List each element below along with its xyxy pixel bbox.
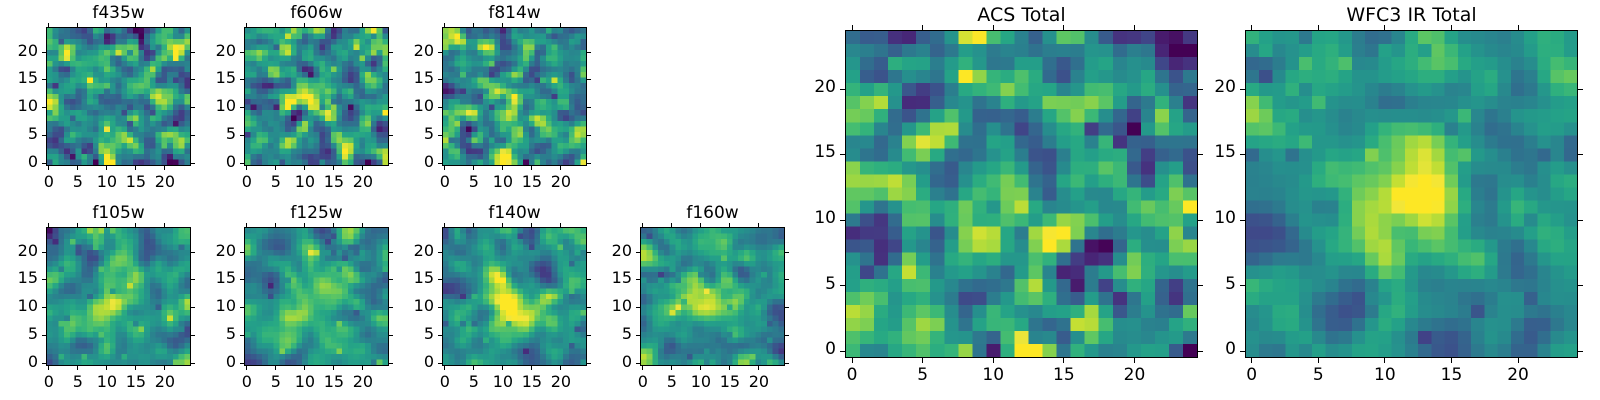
y-tick-right-acs_total-5 (1198, 285, 1203, 286)
heatmap-image-f105w (47, 228, 190, 365)
y-ticklabel-f606w-0: 0 (176, 152, 236, 171)
y-tick-f140w-15 (438, 279, 442, 280)
x-tick-top-f814w-0 (444, 23, 445, 27)
y-tick-f125w-0 (240, 363, 244, 364)
y-ticklabel-f160w-5: 5 (572, 324, 632, 343)
y-tick-f160w-5 (636, 335, 640, 336)
x-ticklabel-f435w-10: 10 (77, 172, 137, 191)
y-tick-right-f105w-10 (191, 307, 195, 308)
x-ticklabel-f814w-10: 10 (473, 172, 533, 191)
y-tick-right-f814w-20 (587, 52, 591, 53)
y-tick-right-f105w-20 (191, 252, 195, 253)
y-ticklabel-f140w-20: 20 (374, 241, 434, 260)
x-ticklabel-f125w-10: 10 (275, 372, 335, 391)
x-tick-top-f160w-20 (758, 223, 759, 227)
axes-f606w[interactable] (244, 27, 389, 166)
heatmap-image-f814w (443, 28, 586, 165)
x-tick-f125w-10 (304, 366, 305, 370)
x-ticklabel-wfc3_ir_total-20: 20 (1488, 365, 1548, 385)
y-ticklabel-f140w-0: 0 (374, 352, 434, 371)
x-ticklabel-f814w-0: 0 (415, 172, 475, 191)
y-ticklabel-f140w-15: 15 (374, 268, 434, 287)
y-tick-acs_total-5 (840, 285, 845, 286)
x-tick-wfc3_ir_total-20 (1518, 358, 1519, 363)
y-tick-right-acs_total-20 (1198, 89, 1203, 90)
heatmap-image-f125w (245, 228, 388, 365)
panel-f125w: f125w0510152005101520 (0, 0, 1600, 400)
y-ticklabel-f435w-5: 5 (0, 124, 38, 143)
x-tick-top-wfc3_ir_total-0 (1251, 25, 1252, 30)
y-tick-right-f606w-10 (389, 107, 393, 108)
x-tick-top-wfc3_ir_total-5 (1318, 25, 1319, 30)
y-ticklabel-f814w-5: 5 (374, 124, 434, 143)
x-ticklabel-acs_total-15: 15 (1034, 365, 1094, 385)
x-tick-top-f435w-5 (77, 23, 78, 27)
x-tick-top-f606w-5 (275, 23, 276, 27)
y-ticklabel-f606w-10: 10 (176, 96, 236, 115)
y-tick-right-f160w-10 (785, 307, 789, 308)
y-tick-f814w-10 (438, 107, 442, 108)
y-tick-wfc3_ir_total-15 (1240, 154, 1245, 155)
y-tick-f606w-0 (240, 163, 244, 164)
x-ticklabel-f435w-5: 5 (48, 172, 108, 191)
x-tick-top-f125w-0 (246, 223, 247, 227)
x-tick-top-f125w-10 (304, 223, 305, 227)
y-ticklabel-f125w-10: 10 (176, 296, 236, 315)
y-ticklabel-f125w-0: 0 (176, 352, 236, 371)
x-tick-top-f140w-10 (502, 223, 503, 227)
panel-title-f606w: f606w (244, 3, 389, 23)
y-tick-f606w-5 (240, 135, 244, 136)
x-tick-wfc3_ir_total-15 (1451, 358, 1452, 363)
x-tick-f435w-0 (48, 166, 49, 170)
x-tick-acs_total-10 (993, 358, 994, 363)
x-tick-f606w-15 (333, 166, 334, 170)
panel-title-f105w: f105w (46, 203, 191, 223)
x-tick-top-f105w-20 (164, 223, 165, 227)
x-tick-top-f606w-20 (362, 23, 363, 27)
y-tick-right-wfc3_ir_total-10 (1578, 220, 1583, 221)
y-tick-right-f435w-10 (191, 107, 195, 108)
y-tick-acs_total-15 (840, 154, 845, 155)
x-tick-f125w-15 (333, 366, 334, 370)
y-tick-f105w-0 (42, 363, 46, 364)
x-tick-f140w-0 (444, 366, 445, 370)
y-tick-acs_total-0 (840, 351, 845, 352)
y-ticklabel-f814w-10: 10 (374, 96, 434, 115)
x-tick-top-f105w-15 (135, 223, 136, 227)
y-ticklabel-f160w-20: 20 (572, 241, 632, 260)
x-ticklabel-acs_total-10: 10 (963, 365, 1023, 385)
y-ticklabel-acs_total-0: 0 (776, 339, 836, 359)
y-ticklabel-f105w-10: 10 (0, 296, 38, 315)
x-tick-top-f606w-10 (304, 23, 305, 27)
y-tick-right-f160w-20 (785, 252, 789, 253)
axes-f105w[interactable] (46, 227, 191, 366)
x-tick-f814w-15 (531, 166, 532, 170)
y-ticklabel-f125w-5: 5 (176, 324, 236, 343)
y-tick-right-f160w-15 (785, 279, 789, 280)
heatmap-image-f160w (641, 228, 784, 365)
x-ticklabel-f160w-20: 20 (729, 372, 789, 391)
y-ticklabel-f606w-15: 15 (176, 68, 236, 87)
y-tick-right-f125w-20 (389, 252, 393, 253)
panel-wfc3_ir_total: WFC3 IR Total0510152005101520 (0, 0, 1600, 400)
x-tick-top-acs_total-20 (1134, 25, 1135, 30)
y-ticklabel-f105w-0: 0 (0, 352, 38, 371)
x-tick-top-f606w-0 (246, 23, 247, 27)
y-tick-right-f140w-5 (587, 335, 591, 336)
x-ticklabel-f125w-5: 5 (246, 372, 306, 391)
x-tick-f606w-5 (275, 166, 276, 170)
x-tick-top-f140w-15 (531, 223, 532, 227)
y-ticklabel-acs_total-5: 5 (776, 274, 836, 294)
y-tick-f814w-15 (438, 79, 442, 80)
x-ticklabel-f105w-20: 20 (135, 372, 195, 391)
y-ticklabel-f814w-20: 20 (374, 41, 434, 60)
x-tick-acs_total-20 (1134, 358, 1135, 363)
x-ticklabel-f606w-10: 10 (275, 172, 335, 191)
x-tick-top-f814w-20 (560, 23, 561, 27)
y-ticklabel-f814w-15: 15 (374, 68, 434, 87)
x-ticklabel-f606w-20: 20 (333, 172, 393, 191)
x-tick-wfc3_ir_total-5 (1318, 358, 1319, 363)
y-tick-f125w-5 (240, 335, 244, 336)
y-tick-f140w-10 (438, 307, 442, 308)
panel-f160w: f160w0510152005101520 (0, 0, 1600, 400)
x-tick-f140w-10 (502, 366, 503, 370)
x-tick-top-acs_total-10 (993, 25, 994, 30)
x-tick-f105w-20 (164, 366, 165, 370)
x-tick-f140w-5 (473, 366, 474, 370)
x-tick-top-f160w-0 (642, 223, 643, 227)
x-ticklabel-f105w-15: 15 (106, 372, 166, 391)
y-tick-right-f140w-15 (587, 279, 591, 280)
x-ticklabel-f435w-15: 15 (106, 172, 166, 191)
x-tick-f435w-20 (164, 166, 165, 170)
x-tick-f435w-5 (77, 166, 78, 170)
y-tick-right-f125w-5 (389, 335, 393, 336)
x-ticklabel-f140w-20: 20 (531, 372, 591, 391)
y-ticklabel-acs_total-15: 15 (776, 142, 836, 162)
x-ticklabel-f160w-5: 5 (642, 372, 702, 391)
y-tick-f606w-15 (240, 79, 244, 80)
x-ticklabel-f125w-20: 20 (333, 372, 393, 391)
x-tick-f606w-20 (362, 166, 363, 170)
panel-acs_total: ACS Total0510152005101520 (0, 0, 1600, 400)
y-ticklabel-f160w-10: 10 (572, 296, 632, 315)
x-tick-top-f435w-0 (48, 23, 49, 27)
panel-title-f814w: f814w (442, 3, 587, 23)
x-tick-f160w-0 (642, 366, 643, 370)
heatmap-image-wfc3_ir_total (1246, 31, 1577, 357)
y-ticklabel-f140w-5: 5 (374, 324, 434, 343)
y-ticklabel-wfc3_ir_total-20: 20 (1176, 77, 1236, 97)
y-tick-acs_total-10 (840, 220, 845, 221)
x-ticklabel-wfc3_ir_total-15: 15 (1421, 365, 1481, 385)
x-tick-top-f105w-5 (77, 223, 78, 227)
y-tick-right-acs_total-15 (1198, 154, 1203, 155)
x-ticklabel-acs_total-20: 20 (1104, 365, 1164, 385)
x-ticklabel-f160w-15: 15 (700, 372, 760, 391)
x-tick-top-f160w-5 (671, 223, 672, 227)
x-ticklabel-f160w-0: 0 (613, 372, 673, 391)
y-tick-f160w-10 (636, 307, 640, 308)
y-tick-right-f125w-10 (389, 307, 393, 308)
x-tick-f435w-10 (106, 166, 107, 170)
x-tick-acs_total-5 (922, 358, 923, 363)
x-tick-f814w-0 (444, 166, 445, 170)
y-tick-right-f606w-20 (389, 52, 393, 53)
y-tick-f160w-0 (636, 363, 640, 364)
y-tick-right-f160w-5 (785, 335, 789, 336)
x-tick-top-f140w-0 (444, 223, 445, 227)
y-tick-f105w-5 (42, 335, 46, 336)
y-tick-f814w-5 (438, 135, 442, 136)
x-tick-f435w-15 (135, 166, 136, 170)
y-tick-right-f140w-0 (587, 363, 591, 364)
y-tick-right-f606w-15 (389, 79, 393, 80)
panel-title-f140w: f140w (442, 203, 587, 223)
heatmap-image-f435w (47, 28, 190, 165)
y-ticklabel-f125w-20: 20 (176, 241, 236, 260)
axes-f435w[interactable] (46, 27, 191, 166)
y-tick-f140w-20 (438, 252, 442, 253)
y-tick-right-f435w-5 (191, 135, 195, 136)
x-ticklabel-f160w-10: 10 (671, 372, 731, 391)
x-ticklabel-wfc3_ir_total-5: 5 (1288, 365, 1348, 385)
x-tick-f105w-5 (77, 366, 78, 370)
x-tick-top-f105w-10 (106, 223, 107, 227)
x-tick-top-f814w-5 (473, 23, 474, 27)
y-tick-f435w-15 (42, 79, 46, 80)
x-ticklabel-f814w-20: 20 (531, 172, 591, 191)
y-tick-f435w-0 (42, 163, 46, 164)
figure-canvas: f435w0510152005101520f606w05101520051015… (0, 0, 1600, 400)
x-tick-top-f105w-0 (48, 223, 49, 227)
y-ticklabel-wfc3_ir_total-15: 15 (1176, 142, 1236, 162)
y-tick-right-f814w-15 (587, 79, 591, 80)
y-tick-f125w-15 (240, 279, 244, 280)
x-tick-top-f435w-20 (164, 23, 165, 27)
panel-f435w: f435w0510152005101520 (0, 0, 1600, 400)
y-tick-f140w-0 (438, 363, 442, 364)
y-ticklabel-f435w-10: 10 (0, 96, 38, 115)
x-tick-top-f160w-15 (729, 223, 730, 227)
y-tick-right-f606w-0 (389, 163, 393, 164)
y-tick-right-wfc3_ir_total-15 (1578, 154, 1583, 155)
y-tick-f140w-5 (438, 335, 442, 336)
y-ticklabel-wfc3_ir_total-0: 0 (1176, 339, 1236, 359)
y-tick-f814w-20 (438, 52, 442, 53)
panel-f814w: f814w0510152005101520 (0, 0, 1600, 400)
x-tick-top-f435w-10 (106, 23, 107, 27)
x-tick-wfc3_ir_total-10 (1384, 358, 1385, 363)
x-tick-f606w-0 (246, 166, 247, 170)
y-tick-right-f125w-15 (389, 279, 393, 280)
y-tick-right-wfc3_ir_total-5 (1578, 285, 1583, 286)
x-tick-f160w-5 (671, 366, 672, 370)
y-tick-wfc3_ir_total-5 (1240, 285, 1245, 286)
y-tick-right-f140w-10 (587, 307, 591, 308)
y-tick-right-f814w-0 (587, 163, 591, 164)
y-tick-wfc3_ir_total-10 (1240, 220, 1245, 221)
x-tick-top-f125w-5 (275, 223, 276, 227)
x-ticklabel-f125w-0: 0 (217, 372, 277, 391)
x-tick-f105w-15 (135, 366, 136, 370)
y-tick-right-f105w-0 (191, 363, 195, 364)
x-tick-f160w-10 (700, 366, 701, 370)
axes-f125w[interactable] (244, 227, 389, 366)
axes-wfc3_ir_total[interactable] (1245, 30, 1578, 358)
y-tick-f435w-5 (42, 135, 46, 136)
x-ticklabel-f606w-0: 0 (217, 172, 277, 191)
heatmap-image-f606w (245, 28, 388, 165)
y-tick-right-wfc3_ir_total-20 (1578, 89, 1583, 90)
x-tick-top-f814w-10 (502, 23, 503, 27)
y-ticklabel-f160w-15: 15 (572, 268, 632, 287)
y-tick-f125w-10 (240, 307, 244, 308)
y-ticklabel-f160w-0: 0 (572, 352, 632, 371)
x-tick-top-f814w-15 (531, 23, 532, 27)
y-tick-f105w-15 (42, 279, 46, 280)
x-ticklabel-f105w-0: 0 (19, 372, 79, 391)
panel-f140w: f140w0510152005101520 (0, 0, 1600, 400)
y-ticklabel-f606w-5: 5 (176, 124, 236, 143)
y-ticklabel-f435w-15: 15 (0, 68, 38, 87)
y-ticklabel-wfc3_ir_total-10: 10 (1176, 208, 1236, 228)
y-tick-right-f105w-15 (191, 279, 195, 280)
panel-f105w: f105w0510152005101520 (0, 0, 1600, 400)
x-tick-top-wfc3_ir_total-20 (1518, 25, 1519, 30)
x-tick-f140w-15 (531, 366, 532, 370)
panel-title-wfc3_ir_total: WFC3 IR Total (1245, 4, 1578, 26)
x-tick-f160w-15 (729, 366, 730, 370)
y-tick-right-f435w-20 (191, 52, 195, 53)
y-ticklabel-f105w-20: 20 (0, 241, 38, 260)
x-tick-top-acs_total-15 (1063, 25, 1064, 30)
y-ticklabel-wfc3_ir_total-5: 5 (1176, 274, 1236, 294)
panel-f606w: f606w0510152005101520 (0, 0, 1600, 400)
y-tick-right-wfc3_ir_total-0 (1578, 351, 1583, 352)
x-ticklabel-f140w-0: 0 (415, 372, 475, 391)
axes-f160w[interactable] (640, 227, 785, 366)
x-ticklabel-f814w-15: 15 (502, 172, 562, 191)
y-ticklabel-f814w-0: 0 (374, 152, 434, 171)
x-tick-f814w-10 (502, 166, 503, 170)
y-tick-right-f435w-15 (191, 79, 195, 80)
x-tick-f125w-5 (275, 366, 276, 370)
x-tick-top-wfc3_ir_total-10 (1384, 25, 1385, 30)
y-tick-right-f125w-0 (389, 363, 393, 364)
y-tick-wfc3_ir_total-20 (1240, 89, 1245, 90)
y-tick-right-f814w-5 (587, 135, 591, 136)
x-tick-top-f140w-5 (473, 223, 474, 227)
y-tick-acs_total-20 (840, 89, 845, 90)
x-tick-f160w-20 (758, 366, 759, 370)
x-tick-top-f125w-20 (362, 223, 363, 227)
x-tick-f140w-20 (560, 366, 561, 370)
y-ticklabel-f435w-0: 0 (0, 152, 38, 171)
x-tick-top-f160w-10 (700, 223, 701, 227)
y-tick-wfc3_ir_total-0 (1240, 351, 1245, 352)
y-ticklabel-f140w-10: 10 (374, 296, 434, 315)
x-tick-acs_total-0 (852, 358, 853, 363)
y-tick-f435w-20 (42, 52, 46, 53)
x-tick-f125w-0 (246, 366, 247, 370)
x-tick-acs_total-15 (1063, 358, 1064, 363)
x-ticklabel-f105w-10: 10 (77, 372, 137, 391)
x-tick-top-acs_total-5 (922, 25, 923, 30)
x-tick-f606w-10 (304, 166, 305, 170)
y-tick-f125w-20 (240, 252, 244, 253)
y-tick-f606w-20 (240, 52, 244, 53)
x-ticklabel-f105w-5: 5 (48, 372, 108, 391)
y-tick-right-acs_total-0 (1198, 351, 1203, 352)
y-ticklabel-acs_total-20: 20 (776, 77, 836, 97)
y-tick-f160w-20 (636, 252, 640, 253)
axes-f814w[interactable] (442, 27, 587, 166)
heatmap-image-acs_total (846, 31, 1197, 357)
x-tick-f125w-20 (362, 366, 363, 370)
axes-f140w[interactable] (442, 227, 587, 366)
x-tick-wfc3_ir_total-0 (1251, 358, 1252, 363)
x-ticklabel-acs_total-0: 0 (822, 365, 882, 385)
x-ticklabel-f814w-5: 5 (444, 172, 504, 191)
x-ticklabel-f435w-20: 20 (135, 172, 195, 191)
x-tick-top-wfc3_ir_total-15 (1451, 25, 1452, 30)
y-tick-right-acs_total-10 (1198, 220, 1203, 221)
y-ticklabel-f105w-15: 15 (0, 268, 38, 287)
x-ticklabel-f140w-10: 10 (473, 372, 533, 391)
x-tick-f105w-10 (106, 366, 107, 370)
y-tick-f606w-10 (240, 107, 244, 108)
y-tick-right-f160w-0 (785, 363, 789, 364)
axes-acs_total[interactable] (845, 30, 1198, 358)
heatmap-image-f140w (443, 228, 586, 365)
panel-title-f160w: f160w (640, 203, 785, 223)
y-ticklabel-f606w-20: 20 (176, 41, 236, 60)
y-tick-f105w-20 (42, 252, 46, 253)
y-tick-f435w-10 (42, 107, 46, 108)
y-tick-right-f435w-0 (191, 163, 195, 164)
x-tick-f814w-5 (473, 166, 474, 170)
y-tick-right-f140w-20 (587, 252, 591, 253)
x-ticklabel-acs_total-5: 5 (893, 365, 953, 385)
x-tick-top-f140w-20 (560, 223, 561, 227)
x-ticklabel-f435w-0: 0 (19, 172, 79, 191)
panel-title-f435w: f435w (46, 3, 191, 23)
y-ticklabel-f105w-5: 5 (0, 324, 38, 343)
panel-title-f125w: f125w (244, 203, 389, 223)
y-ticklabel-f125w-15: 15 (176, 268, 236, 287)
y-tick-f105w-10 (42, 307, 46, 308)
y-tick-f160w-15 (636, 279, 640, 280)
x-tick-top-f125w-15 (333, 223, 334, 227)
x-ticklabel-f125w-15: 15 (304, 372, 364, 391)
x-tick-top-f435w-15 (135, 23, 136, 27)
y-ticklabel-f435w-20: 20 (0, 41, 38, 60)
x-tick-top-acs_total-0 (852, 25, 853, 30)
x-ticklabel-wfc3_ir_total-0: 0 (1222, 365, 1282, 385)
y-tick-f814w-0 (438, 163, 442, 164)
x-ticklabel-f606w-15: 15 (304, 172, 364, 191)
panel-title-acs_total: ACS Total (845, 4, 1198, 26)
x-ticklabel-f606w-5: 5 (246, 172, 306, 191)
y-tick-right-f105w-5 (191, 335, 195, 336)
x-tick-top-f606w-15 (333, 23, 334, 27)
y-tick-right-f814w-10 (587, 107, 591, 108)
